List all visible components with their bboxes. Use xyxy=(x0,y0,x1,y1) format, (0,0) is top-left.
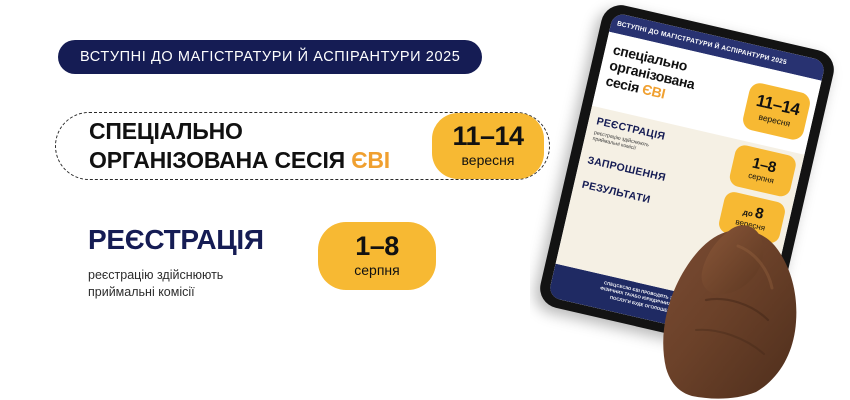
left-content-panel: ВСТУПНІ ДО МАГІСТРАТУРИ Й АСПІРАНТУРИ 20… xyxy=(0,0,570,400)
date-pill-august-month: серпня xyxy=(354,262,399,279)
date-pill-september-range: 11–14 xyxy=(452,123,523,150)
title-banner-label: ВСТУПНІ ДО МАГІСТРАТУРИ Й АСПІРАНТУРИ 20… xyxy=(80,49,460,65)
registration-block: РЕЄСТРАЦІЯ реєстрацію здійснюють приймал… xyxy=(88,225,264,301)
headline-line-2: ОРГАНІЗОВАНА СЕСІЯ ЄВІ xyxy=(89,146,390,175)
headline-accent-evi: ЄВІ xyxy=(351,147,390,173)
headline-text-group: СПЕЦІАЛЬНО ОРГАНІЗОВАНА СЕСІЯ ЄВІ xyxy=(89,117,390,175)
tablet-mockup-scene: ВСТУПНІ ДО МАГІСТРАТУРИ Й АСПІРАНТУРИ 20… xyxy=(530,0,850,400)
headline-line-1: СПЕЦІАЛЬНО xyxy=(89,117,390,146)
tablet-screen: ВСТУПНІ ДО МАГІСТРАТУРИ Й АСПІРАНТУРИ 20… xyxy=(548,12,826,346)
tablet-date-pill-invitation-range: 8 xyxy=(753,206,764,222)
tablet-date-pill-results-prefix: до xyxy=(727,254,739,265)
date-pill-august: 1–8 серпня xyxy=(318,222,436,290)
date-pill-september-month: вересня xyxy=(462,152,515,169)
tablet-date-pill-results: до 23 вересня xyxy=(706,237,776,292)
date-pill-august-range: 1–8 xyxy=(355,233,399,260)
tablet-device: ВСТУПНІ ДО МАГІСТРАТУРИ Й АСПІРАНТУРИ 20… xyxy=(536,1,838,357)
date-pill-september: 11–14 вересня xyxy=(432,113,544,179)
headline-line-2-text: ОРГАНІЗОВАНА СЕСІЯ xyxy=(89,147,351,173)
registration-subtitle: реєстрацію здійснюють приймальні комісії xyxy=(88,267,264,301)
registration-title: РЕЄСТРАЦІЯ xyxy=(88,225,264,256)
tablet-date-pill-invitation-prefix: до xyxy=(742,208,754,219)
title-banner: ВСТУПНІ ДО МАГІСТРАТУРИ Й АСПІРАНТУРИ 20… xyxy=(58,40,482,74)
